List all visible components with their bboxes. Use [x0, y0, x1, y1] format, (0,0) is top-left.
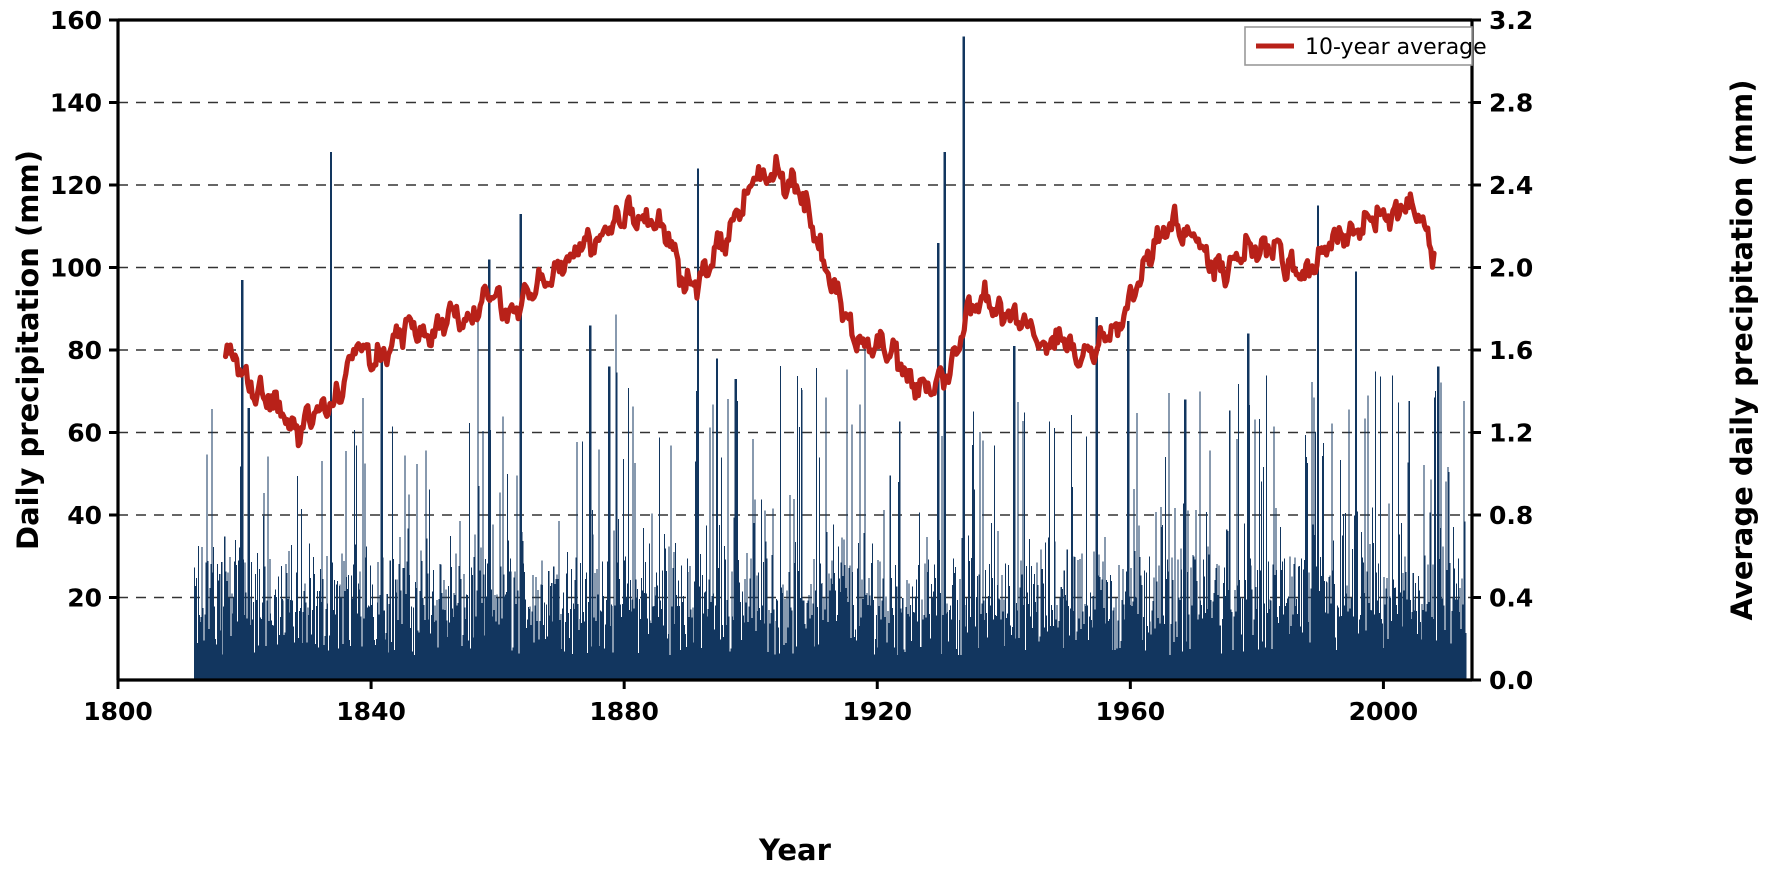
- left-tick-label: 120: [50, 171, 102, 200]
- chart-canvas: 20406080100120140160 0.00.40.81.21.62.02…: [0, 0, 1792, 886]
- y-axis-label: Daily precipitation (mm): [11, 150, 45, 550]
- x-tick-label: 1920: [842, 697, 912, 726]
- right-tick-label: 2.4: [1489, 171, 1533, 200]
- right-tick-label: 3.2: [1489, 6, 1533, 35]
- right-tick-label: 0.8: [1489, 501, 1533, 530]
- left-tick-label: 60: [67, 419, 102, 448]
- left-tick-label: 160: [50, 6, 102, 35]
- precipitation-chart-figure: 20406080100120140160 0.00.40.81.21.62.02…: [0, 0, 1792, 886]
- right-tick-label: 1.6: [1489, 336, 1533, 365]
- y2-axis-label: Average daily precipitation (mm): [1725, 80, 1759, 621]
- x-axis-label: Year: [758, 833, 832, 867]
- x-tick-label: 2000: [1349, 697, 1419, 726]
- left-tick-label: 20: [67, 584, 102, 613]
- left-tick-label: 40: [67, 501, 102, 530]
- right-tick-label: 2.8: [1489, 89, 1533, 118]
- x-tick-label: 1880: [589, 697, 659, 726]
- left-tick-label: 80: [67, 336, 102, 365]
- right-tick-label: 0.0: [1489, 666, 1533, 695]
- x-tick-label: 1960: [1096, 697, 1166, 726]
- left-tick-label: 140: [50, 89, 102, 118]
- left-tick-label: 100: [50, 254, 102, 283]
- right-tick-label: 0.4: [1489, 584, 1533, 613]
- legend-label-ten-year-average: 10-year average: [1305, 35, 1487, 60]
- x-tick-label: 1800: [83, 697, 153, 726]
- chart-legend[interactable]: 10-year average: [1245, 27, 1487, 65]
- right-tick-label: 2.0: [1489, 254, 1533, 283]
- x-tick-label: 1840: [336, 697, 406, 726]
- right-tick-label: 1.2: [1489, 419, 1533, 448]
